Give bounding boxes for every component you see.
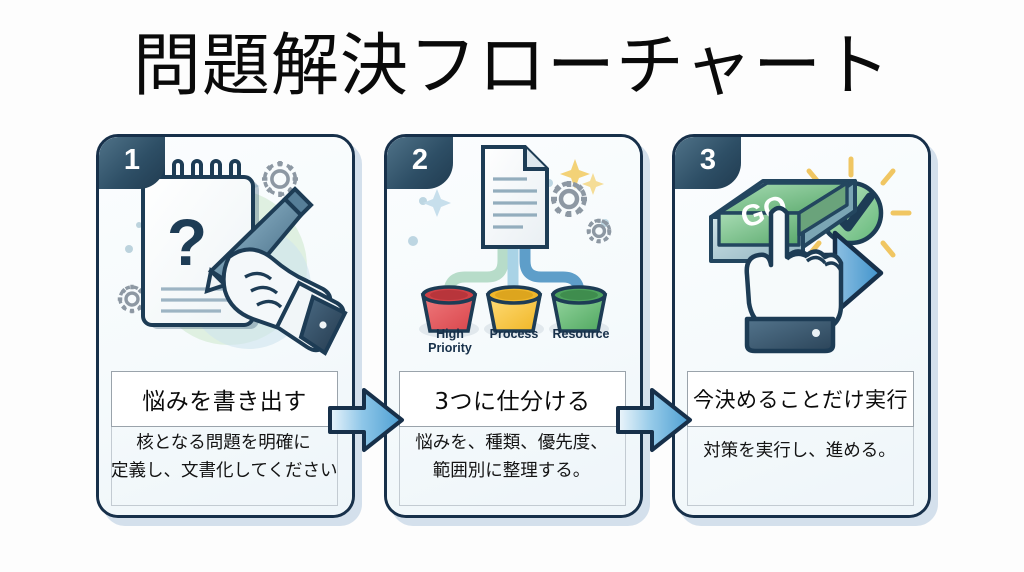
step-card-3[interactable]: GO 3 今決めることだけ実行 [672,134,931,518]
document-icon [483,147,547,247]
step-body-line: 範囲別に整理する。 [399,457,624,485]
step-badge-2: 2 [387,137,453,189]
step-heading-3: 今決めることだけ実行 [693,384,908,414]
step-badge-3: 3 [675,137,741,189]
gear-icon [587,219,611,243]
step-badge-1: 1 [99,137,165,189]
bucket-label-line: Resource [553,327,610,341]
sparkle-icon [582,173,604,195]
step-card-2[interactable]: High Priority Process Resource 2 3つに仕分ける… [384,134,643,518]
step-heading-box-1: 悩みを書き出す [111,371,338,427]
page-title: 問題解決フローチャート [0,28,1024,106]
bucket-label-high-priority: High Priority [417,327,483,355]
step-body-line: 悩みを、種類、優先度、 [399,429,624,457]
bucket-label-process: Process [481,327,547,341]
gear-icon [551,181,587,217]
step-heading-2: 3つに仕分ける [434,382,590,416]
step-body-2: 悩みを、種類、優先度、 範囲別に整理する。 [399,429,624,485]
step-heading-1: 悩みを書き出す [142,382,307,416]
step-body-line: 対策を実行し、進める。 [687,437,912,465]
infographic-canvas: 問題解決フローチャート [0,0,1024,572]
step-body-line: 核となる問題を明確に [111,429,336,457]
steps-container: ? [0,134,1024,514]
question-mark-icon: ? [167,205,207,279]
arrow-step1-to-step2 [328,380,406,460]
step-heading-box-3: 今決めることだけ実行 [687,371,914,427]
step-card-1[interactable]: ? [96,134,355,518]
arrow-step2-to-step3 [616,380,694,460]
step-body-1: 核となる問題を明確に 定義し、文書化してください [111,429,336,485]
bucket-label-resource: Resource [546,327,616,341]
step-body-line: 定義し、文書化してください [111,457,336,485]
step-heading-box-2: 3つに仕分ける [399,371,626,427]
sparkle-icon [423,189,451,217]
step-body-3: 対策を実行し、進める。 [687,437,912,465]
bucket-label-line: Priority [428,341,472,355]
bucket-label-line: Process [490,327,539,341]
bucket-label-line: High [436,327,464,341]
